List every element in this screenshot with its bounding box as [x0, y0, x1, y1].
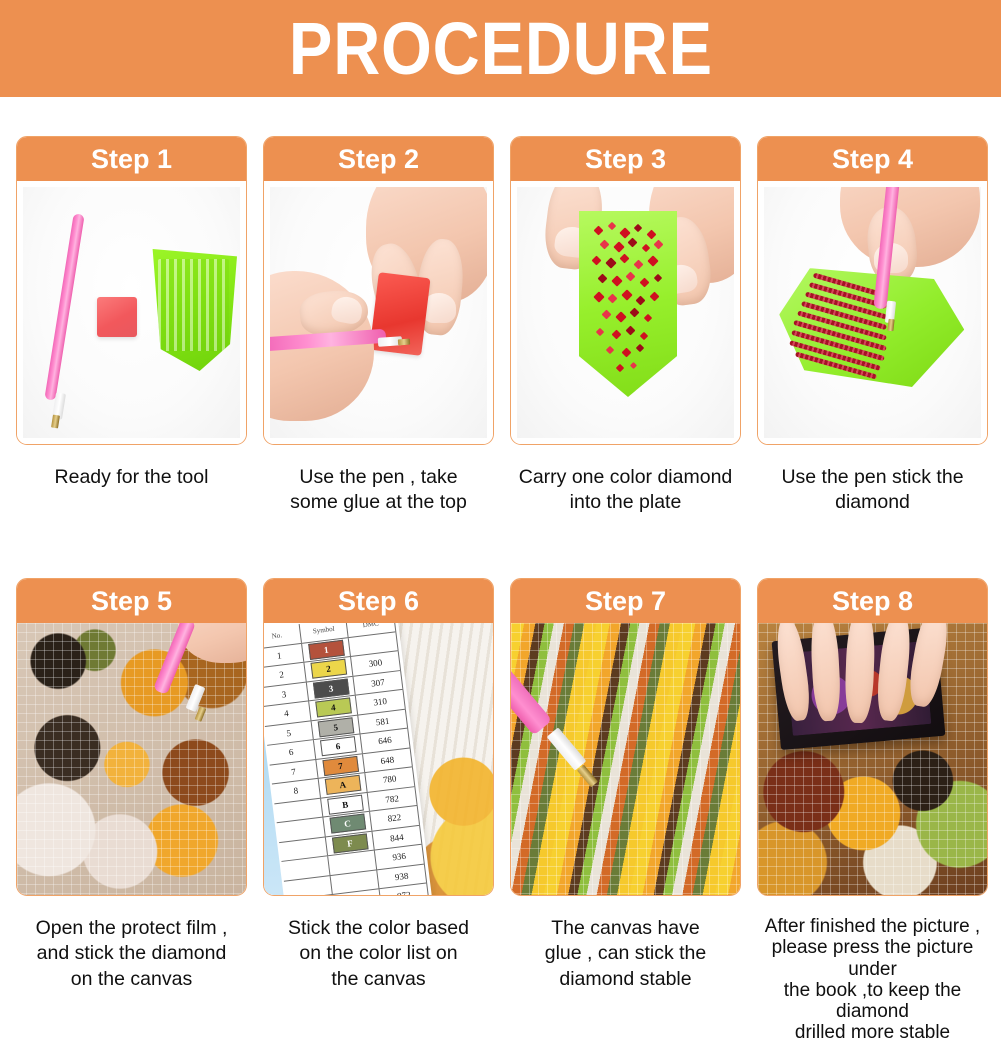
step-4-header: Step 4: [758, 137, 987, 181]
step-5-card: Step 5: [16, 578, 247, 896]
step-card-5: Step 5 Open the protect film , and stick…: [16, 578, 247, 1044]
step-3-card: Step 3: [510, 136, 741, 445]
step-2-caption: Use the pen , take some glue at the top: [263, 465, 494, 516]
page-header-banner: PROCEDURE: [0, 0, 1001, 97]
step-card-6: Step 6 No. Symbol DMC: [263, 578, 494, 1044]
step-2-photo: [264, 181, 493, 444]
steps-row-2: Step 5 Open the protect film , and stick…: [0, 578, 1001, 1044]
step-7-card: Step 7: [510, 578, 741, 896]
step-1-photo: [17, 181, 246, 444]
step-card-7: Step 7 The canvas have glue , can stick …: [510, 578, 741, 1044]
step-5-header: Step 5: [17, 579, 246, 623]
step-card-2: Step 2: [263, 136, 494, 516]
glue-square-icon: [97, 297, 137, 337]
step-6-photo: No. Symbol DMC 1 1 2: [264, 623, 493, 895]
step-6-card: Step 6 No. Symbol DMC: [263, 578, 494, 896]
step-4-card: Step 4: [757, 136, 988, 445]
step-7-header: Step 7: [511, 579, 740, 623]
step-8-card: Step 8: [757, 578, 988, 896]
step-card-8: Step 8 After finished the pi: [757, 578, 988, 1044]
step-4-photo: [758, 181, 987, 444]
step-6-caption: Stick the color based on the color list …: [263, 916, 494, 992]
step-4-caption: Use the pen stick the diamond: [757, 465, 988, 516]
page-title: PROCEDURE: [288, 12, 712, 86]
step-3-header: Step 3: [511, 137, 740, 181]
step-card-4: Step 4: [757, 136, 988, 516]
step-7-caption: The canvas have glue , can stick the dia…: [510, 916, 741, 992]
diamond-canvas-colorful: [511, 623, 740, 895]
step-5-caption: Open the protect film , and stick the di…: [16, 916, 247, 992]
step-5-photo: [17, 623, 246, 895]
step-2-header: Step 2: [264, 137, 493, 181]
step-1-header: Step 1: [17, 137, 246, 181]
steps-grid: Step 1: [0, 97, 1001, 1001]
step-3-photo: [511, 181, 740, 444]
pen-metal-tip-icon: [887, 319, 894, 332]
step-2-card: Step 2: [263, 136, 494, 445]
step-3-caption: Carry one color diamond into the plate: [510, 465, 741, 516]
step-7-photo: [511, 623, 740, 895]
step-1-caption: Ready for the tool: [16, 465, 247, 490]
step-card-3: Step 3: [510, 136, 741, 516]
diamond-canvas-sunflower: [17, 623, 246, 895]
step-8-header: Step 8: [758, 579, 987, 623]
step-8-caption: After finished the picture , please pres…: [757, 916, 988, 1044]
steps-row-1: Step 1: [0, 136, 1001, 516]
step-8-photo: [758, 623, 987, 895]
step-card-1: Step 1: [16, 136, 247, 516]
step-1-card: Step 1: [16, 136, 247, 445]
step-6-header: Step 6: [264, 579, 493, 623]
pen-metal-tip-icon: [398, 339, 410, 346]
